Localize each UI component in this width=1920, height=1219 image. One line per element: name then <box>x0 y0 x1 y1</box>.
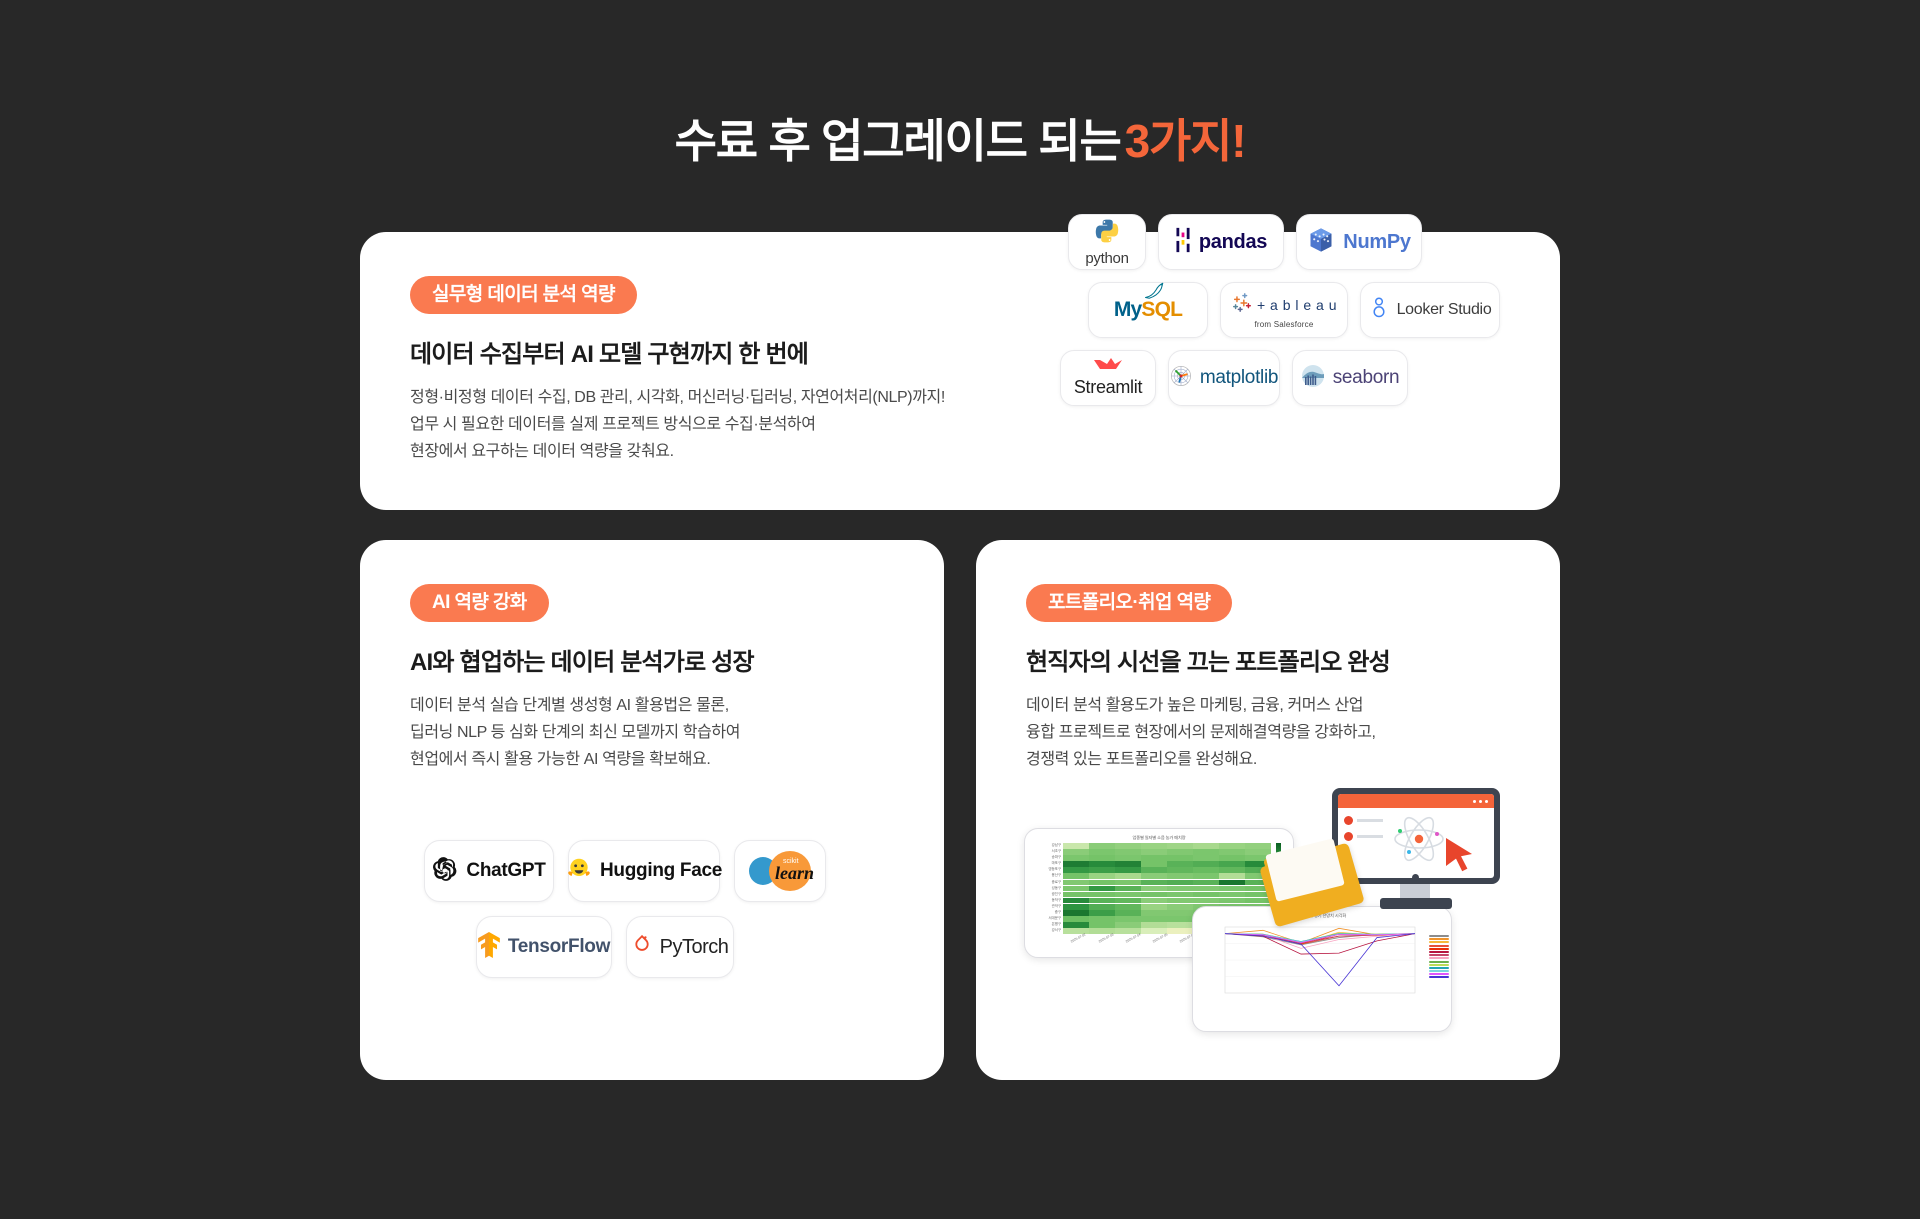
scikit-learn-icon: scikit learn <box>749 851 811 891</box>
logo-chip-mysql[interactable]: MySQL <box>1088 282 1208 338</box>
heatmap-y-tick: 은평구 <box>1029 923 1063 926</box>
heatmap-cell <box>1167 855 1193 861</box>
heatmap-y-tick: 강서구 <box>1029 929 1063 932</box>
logo-chip-matplotlib[interactable]: matplotlib <box>1168 350 1280 406</box>
logo-chip-seaborn[interactable]: seaborn <box>1292 350 1408 406</box>
heatmap-cell <box>1193 892 1219 898</box>
line-chart-panel: 산업군별 경기 전망치 시각화 <box>1192 906 1452 1032</box>
heatmap-cell <box>1063 886 1089 892</box>
heatmap-y-tick: 성동구 <box>1029 887 1063 890</box>
heatmap-cell <box>1089 886 1115 892</box>
legend-swatch <box>1429 976 1449 978</box>
logo-label-matplotlib: matplotlib <box>1200 367 1278 389</box>
heatmap-y-tick: 광진구 <box>1029 893 1063 896</box>
heatmap-cell <box>1219 892 1245 898</box>
seaborn-icon <box>1301 364 1325 393</box>
heatmap-cell <box>1141 898 1167 904</box>
heatmap-y-tick-labels: 강남구서초구송파구마포구영등포구용산구종로구성동구광진구동작구관악구중구서대문구… <box>1029 843 1063 934</box>
heatmap-cell <box>1245 843 1271 849</box>
heatmap-y-tick: 동작구 <box>1029 899 1063 902</box>
logo-chip-chatgpt[interactable]: ChatGPT <box>424 840 554 902</box>
heatmap-cell <box>1167 861 1193 867</box>
badge-ai-capability: AI 역량 강화 <box>410 584 549 622</box>
heatmap-cell <box>1193 880 1219 886</box>
heatmap-cell <box>1141 849 1167 855</box>
logo-chip-hugging-face[interactable]: Hugging Face <box>568 840 720 902</box>
tech-logo-row-3: Streamlit <box>1060 350 1530 406</box>
heatmap-y-tick: 서대문구 <box>1029 917 1063 920</box>
cursor-arrow-icon <box>1444 836 1478 881</box>
logo-label-chatgpt: ChatGPT <box>466 860 545 882</box>
heatmap-cell <box>1141 886 1167 892</box>
logo-label-seaborn: seaborn <box>1333 367 1400 389</box>
heatmap-cell <box>1063 861 1089 867</box>
logo-chip-streamlit[interactable]: Streamlit <box>1060 350 1156 406</box>
tableau-icon <box>1231 292 1253 319</box>
legend-swatch <box>1429 957 1449 959</box>
tech-logo-row-1: python <box>1060 214 1530 270</box>
heatmap-cell <box>1219 849 1245 855</box>
heatmap-y-tick: 영등포구 <box>1029 868 1063 871</box>
heatmap-cell <box>1115 849 1141 855</box>
page-title: 수료 후 업그레이드 되는3가지! <box>0 114 1920 169</box>
heatmap-cell <box>1167 892 1193 898</box>
heatmap-y-tick: 중구 <box>1029 911 1063 914</box>
page-root: 수료 후 업그레이드 되는3가지! 실무형 데이터 분석 역량 데이터 수집부터… <box>0 0 1920 1219</box>
heatmap-cell <box>1141 910 1167 916</box>
line-chart-legend <box>1429 935 1449 978</box>
heatmap-cell <box>1167 916 1193 922</box>
heatmap-y-tick: 관악구 <box>1029 905 1063 908</box>
card-grid: 실무형 데이터 분석 역량 데이터 수집부터 AI 모델 구현까지 한 번에 정… <box>360 232 1560 1080</box>
heatmap-cell <box>1193 849 1219 855</box>
card-heading-ai: AI와 협업하는 데이터 분석가로 성장 <box>410 642 894 677</box>
badge-practical-data-analysis: 실무형 데이터 분석 역량 <box>410 276 637 314</box>
ai-logo-stack: ChatGPT <box>410 840 894 992</box>
matplotlib-icon <box>1170 365 1192 392</box>
portfolio-illustration: 업종별 일자별 소음 농가 매치량 강남구서초구송파구마포구영등포구용산구종로구… <box>1014 788 1514 1018</box>
heatmap-cell <box>1141 867 1167 873</box>
ai-logo-row-2: TensorFlow PyTorch <box>410 916 894 978</box>
heatmap-cell <box>1089 873 1115 879</box>
heatmap-cell <box>1193 867 1219 873</box>
legend-swatch <box>1429 951 1449 953</box>
card-body-portfolio: 데이터 분석 활용도가 높은 마케팅, 금융, 커머스 산업 융합 프로젝트로 … <box>1026 693 1510 774</box>
card-heading-portfolio: 현직자의 시선을 끄는 포트폴리오 완성 <box>1026 642 1510 677</box>
logo-label-tableau: + a b l e a u <box>1257 297 1337 313</box>
monitor-list-row <box>1344 816 1383 825</box>
mysql-dolphin-icon <box>1144 280 1174 305</box>
card-practical-data-analysis: 실무형 데이터 분석 역량 데이터 수집부터 AI 모델 구현까지 한 번에 정… <box>360 232 1560 510</box>
logo-label-hugging-face: Hugging Face <box>600 860 722 882</box>
heatmap-cell <box>1141 892 1167 898</box>
pytorch-icon <box>632 933 652 962</box>
heatmap-cell <box>1115 916 1141 922</box>
heatmap-cell <box>1141 904 1167 910</box>
heatmap-cell <box>1141 855 1167 861</box>
pandas-icon <box>1175 226 1191 259</box>
heatmap-cell <box>1167 843 1193 849</box>
heatmap-cell <box>1115 904 1141 910</box>
heatmap-cell <box>1167 873 1193 879</box>
monitor-base <box>1380 898 1452 909</box>
heatmap-cell <box>1167 880 1193 886</box>
heatmap-cell <box>1115 922 1141 928</box>
heatmap-cell <box>1141 916 1167 922</box>
legend-swatch <box>1429 954 1449 956</box>
heatmap-cell <box>1167 922 1193 928</box>
heatmap-cell <box>1193 873 1219 879</box>
numpy-icon <box>1307 226 1335 259</box>
logo-chip-python[interactable]: python <box>1068 214 1146 270</box>
heatmap-cell <box>1089 855 1115 861</box>
logo-chip-numpy[interactable]: NumPy <box>1296 214 1422 270</box>
heatmap-cell <box>1115 861 1141 867</box>
heatmap-cell <box>1167 910 1193 916</box>
heatmap-cell <box>1219 843 1245 849</box>
logo-label-looker-studio: Looker Studio <box>1397 301 1492 319</box>
heatmap-cell <box>1089 910 1115 916</box>
legend-swatch <box>1429 945 1449 947</box>
heatmap-cell <box>1089 922 1115 928</box>
heatmap-cell <box>1219 873 1245 879</box>
heatmap-cell <box>1089 898 1115 904</box>
line-chart-svg <box>1209 923 1421 1007</box>
logo-chip-tableau[interactable]: + a b l e a u from Salesforce <box>1220 282 1348 338</box>
monitor-power-dot <box>1412 874 1419 881</box>
heatmap-cell <box>1089 861 1115 867</box>
legend-swatch <box>1429 964 1449 966</box>
heatmap-cell <box>1141 880 1167 886</box>
heatmap-cell <box>1115 843 1141 849</box>
heatmap-cell <box>1089 843 1115 849</box>
ai-logo-row-1: ChatGPT <box>410 840 894 902</box>
heatmap-cell <box>1193 855 1219 861</box>
looker-studio-icon <box>1369 296 1389 325</box>
logo-label-numpy: NumPy <box>1343 231 1410 254</box>
hugging-face-icon <box>566 856 592 887</box>
card-portfolio-employment: 포트폴리오·취업 역량 현직자의 시선을 끄는 포트폴리오 완성 데이터 분석 … <box>976 540 1560 1080</box>
legend-swatch <box>1429 948 1449 950</box>
heatmap-y-tick: 서초구 <box>1029 850 1063 853</box>
legend-swatch <box>1429 961 1449 963</box>
heatmap-cell <box>1115 873 1141 879</box>
tensorflow-icon <box>478 932 500 963</box>
heatmap-cell <box>1141 843 1167 849</box>
heatmap-cell <box>1063 922 1089 928</box>
heatmap-cell <box>1193 861 1219 867</box>
heatmap-cell <box>1063 916 1089 922</box>
logo-chip-scikit-learn[interactable]: scikit learn <box>734 840 826 902</box>
heatmap-cell <box>1115 892 1141 898</box>
heatmap-cell <box>1115 855 1141 861</box>
logo-label-streamlit: Streamlit <box>1074 377 1142 398</box>
heatmap-y-tick: 용산구 <box>1029 874 1063 877</box>
heatmap-cell <box>1141 873 1167 879</box>
page-title-accent: 3가지! <box>1125 115 1246 167</box>
logo-chip-tensorflow[interactable]: TensorFlow <box>476 916 612 978</box>
heatmap-cell <box>1115 910 1141 916</box>
logo-label-pytorch: PyTorch <box>660 936 729 959</box>
legend-swatch <box>1429 935 1449 937</box>
python-icon <box>1094 218 1120 249</box>
logo-label-pandas: pandas <box>1199 231 1267 254</box>
heatmap-cell <box>1063 880 1089 886</box>
legend-swatch <box>1429 973 1449 975</box>
heatmap-cell <box>1219 855 1245 861</box>
heatmap-cell <box>1219 886 1245 892</box>
streamlit-icon <box>1093 358 1123 377</box>
openai-icon <box>432 856 458 887</box>
heatmap-cell <box>1219 861 1245 867</box>
heatmap-cell <box>1063 843 1089 849</box>
card-body-ai: 데이터 분석 실습 단계별 생성형 AI 활용법은 물론, 딥러닝 NLP 등 … <box>410 693 894 774</box>
logo-label-tensorflow: TensorFlow <box>508 936 610 958</box>
heatmap-cell <box>1063 849 1089 855</box>
heatmap-cell <box>1063 867 1089 873</box>
logo-chip-pandas[interactable]: pandas <box>1158 214 1284 270</box>
heatmap-y-tick: 송파구 <box>1029 856 1063 859</box>
heatmap-cell <box>1063 873 1089 879</box>
heatmap-cell <box>1063 855 1089 861</box>
heatmap-cell <box>1167 904 1193 910</box>
legend-swatch <box>1429 941 1449 943</box>
card-row-bottom: AI 역량 강화 AI와 협업하는 데이터 분석가로 성장 데이터 분석 실습 … <box>360 540 1560 1080</box>
heatmap-cell <box>1167 898 1193 904</box>
heatmap-cell <box>1089 867 1115 873</box>
tech-logo-stack: python <box>1060 214 1530 418</box>
heatmap-cell <box>1193 898 1219 904</box>
logo-chip-pytorch[interactable]: PyTorch <box>626 916 734 978</box>
heatmap-cell <box>1167 886 1193 892</box>
heatmap-cell <box>1167 928 1193 934</box>
heatmap-cell <box>1063 892 1089 898</box>
heatmap-y-tick: 종로구 <box>1029 881 1063 884</box>
legend-swatch <box>1429 970 1449 972</box>
heatmap-cell <box>1063 898 1089 904</box>
heatmap-cell <box>1219 898 1245 904</box>
heatmap-cell <box>1063 910 1089 916</box>
heatmap-cell <box>1089 849 1115 855</box>
heatmap-cell <box>1063 904 1089 910</box>
badge-portfolio-employment: 포트폴리오·취업 역량 <box>1026 584 1232 622</box>
atom-icon <box>1391 816 1447 867</box>
logo-chip-looker-studio[interactable]: Looker Studio <box>1360 282 1500 338</box>
heatmap-cell <box>1193 843 1219 849</box>
heatmap-cell <box>1167 867 1193 873</box>
logo-sublabel-tableau: from Salesforce <box>1254 320 1313 329</box>
heatmap-cell <box>1141 861 1167 867</box>
heatmap-cell <box>1167 849 1193 855</box>
card-ai-capability: AI 역량 강화 AI와 협업하는 데이터 분석가로 성장 데이터 분석 실습 … <box>360 540 944 1080</box>
heatmap-cell <box>1193 886 1219 892</box>
heatmap-y-tick: 강남구 <box>1029 844 1063 847</box>
heatmap-cell <box>1089 880 1115 886</box>
heatmap-cell <box>1089 892 1115 898</box>
heatmap-y-tick: 마포구 <box>1029 862 1063 865</box>
line-plot-area <box>1193 919 1451 1007</box>
monitor-window-titlebar <box>1338 794 1494 808</box>
heatmap-cell <box>1141 922 1167 928</box>
heatmap-cell <box>1089 916 1115 922</box>
heatmap-cell <box>1115 898 1141 904</box>
heatmap-cell <box>1115 867 1141 873</box>
logo-label-python: python <box>1085 250 1128 267</box>
heatmap-cell <box>1115 886 1141 892</box>
heatmap-cell <box>1115 880 1141 886</box>
tech-logo-row-2: MySQL <box>1060 282 1530 338</box>
legend-swatch <box>1429 967 1449 969</box>
logo-label-scikit-learn: learn <box>775 863 814 884</box>
heatmap-cell <box>1219 880 1245 886</box>
heatmap-cell <box>1089 904 1115 910</box>
legend-swatch <box>1429 938 1449 940</box>
monitor-list-row <box>1344 832 1383 841</box>
page-title-main: 수료 후 업그레이드 되는 <box>675 115 1121 167</box>
heatmap-cell <box>1219 867 1245 873</box>
